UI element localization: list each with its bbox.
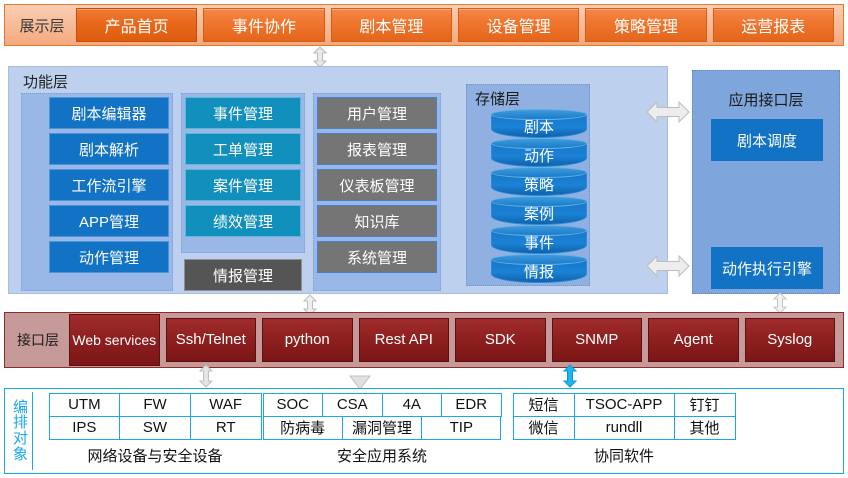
orch-cell-utm[interactable]: UTM <box>49 393 121 417</box>
interface-button-snmp[interactable]: SNMP <box>552 318 643 362</box>
storage-cylinder-policy[interactable]: 策略 <box>491 167 587 196</box>
orch-cell-waf[interactable]: WAF <box>190 393 262 417</box>
function-column-admin: 用户管理 报表管理 仪表板管理 知识库 系统管理 <box>313 93 441 291</box>
orchestration-row: 微信 rundll 其他 <box>513 416 735 439</box>
presentation-layer-bar: 展示层 产品首页 事件协作 剧本管理 设备管理 策略管理 运营报表 <box>4 4 844 46</box>
interface-button-python[interactable]: python <box>262 318 353 362</box>
architecture-diagram: 展示层 产品首页 事件协作 剧本管理 设备管理 策略管理 运营报表 功能层 剧本… <box>0 0 848 478</box>
function-column-playbook: 剧本编辑器 剧本解析 工作流引擎 APP管理 动作管理 <box>21 93 173 291</box>
function-cell-playbook-parse[interactable]: 剧本解析 <box>49 133 169 165</box>
orchestration-group-security-apps: SOC CSA 4A EDR 防病毒 漏洞管理 TIP 安全应用系统 <box>263 393 501 466</box>
app-interface-layer-title: 应用接口层 <box>693 89 839 110</box>
nav-button-operation-report[interactable]: 运营报表 <box>713 8 834 42</box>
orchestration-caption-network-devices: 网络设备与安全设备 <box>49 439 261 466</box>
orch-cell-tsoc-app[interactable]: TSOC-APP <box>574 393 675 417</box>
storage-label-event: 事件 <box>524 227 554 253</box>
storage-label-intelligence: 情报 <box>524 256 554 282</box>
function-cell-report-management[interactable]: 报表管理 <box>317 133 437 165</box>
orchestration-caption-security-apps: 安全应用系统 <box>263 439 501 466</box>
arrow-presentation-function <box>306 46 334 68</box>
orch-cell-4a[interactable]: 4A <box>382 393 443 417</box>
storage-cylinder-playbook[interactable]: 剧本 <box>491 109 587 138</box>
orchestration-objects-panel: 编 排 对 象 UTM FW WAF IPS SW RT 网络设备与安全设备 S… <box>4 388 844 474</box>
orch-cell-rt[interactable]: RT <box>190 416 262 440</box>
orchestration-row: SOC CSA 4A EDR <box>263 393 501 416</box>
storage-cylinder-action[interactable]: 动作 <box>491 138 587 167</box>
orch-cell-other[interactable]: 其他 <box>674 416 736 440</box>
storage-cylinder-stack: 剧本 动作 策略 案例 事件 情报 <box>491 109 587 283</box>
function-cell-performance-management[interactable]: 绩效管理 <box>185 205 301 237</box>
interface-button-web-services[interactable]: Web services <box>69 314 160 366</box>
arrow-interface-collaboration-software <box>557 364 583 390</box>
function-cell-user-management[interactable]: 用户管理 <box>317 97 437 129</box>
presentation-layer-label: 展示层 <box>11 15 73 36</box>
orchestration-row: 防病毒 漏洞管理 TIP <box>263 416 501 439</box>
interface-button-syslog[interactable]: Syslog <box>745 318 836 362</box>
function-cell-action-management[interactable]: 动作管理 <box>49 241 169 273</box>
app-interface-layer-panel: 应用接口层 剧本调度 动作执行引擎 <box>692 70 840 294</box>
storage-layer-title: 存储层 <box>475 88 520 109</box>
function-cell-app-management[interactable]: APP管理 <box>49 205 169 237</box>
orch-cell-sms[interactable]: 短信 <box>513 393 575 417</box>
nav-button-event-collaboration[interactable]: 事件协作 <box>203 8 324 42</box>
orch-cell-edr[interactable]: EDR <box>441 393 502 417</box>
orch-cell-csa[interactable]: CSA <box>322 393 383 417</box>
function-cell-intelligence-management[interactable]: 情报管理 <box>184 259 302 291</box>
interface-button-sdk[interactable]: SDK <box>455 318 546 362</box>
arrow-function-app-bottom <box>646 252 690 280</box>
interface-button-rest-api[interactable]: Rest API <box>359 318 450 362</box>
orchestration-label-char-4: 象 <box>13 447 28 463</box>
function-cell-dashboard-management[interactable]: 仪表板管理 <box>317 169 437 201</box>
interface-layer-bar: 接口层 Web services Ssh/Telnet python Rest … <box>4 312 844 368</box>
orchestration-label-char-3: 对 <box>13 431 28 447</box>
storage-label-policy: 策略 <box>524 169 554 195</box>
orchestration-row: 短信 TSOC-APP 钉钉 <box>513 393 735 416</box>
arrow-function-app-top <box>646 98 690 126</box>
orchestration-group-network-devices: UTM FW WAF IPS SW RT 网络设备与安全设备 <box>49 393 261 466</box>
function-cell-playbook-editor[interactable]: 剧本编辑器 <box>49 97 169 129</box>
nav-button-playbook-management[interactable]: 剧本管理 <box>331 8 452 42</box>
orchestration-label-char-1: 编 <box>13 400 28 416</box>
arrow-interface-network-devices <box>193 364 219 390</box>
storage-cylinder-case[interactable]: 案例 <box>491 196 587 225</box>
function-cell-workflow-engine[interactable]: 工作流引擎 <box>49 169 169 201</box>
storage-cylinder-event[interactable]: 事件 <box>491 225 587 254</box>
storage-cylinder-intelligence[interactable]: 情报 <box>491 254 587 283</box>
orch-cell-wechat[interactable]: 微信 <box>513 416 575 440</box>
orch-cell-dingtalk[interactable]: 钉钉 <box>674 393 736 417</box>
app-box-action-execution-engine[interactable]: 动作执行引擎 <box>711 247 823 289</box>
orchestration-group-collaboration-software: 短信 TSOC-APP 钉钉 微信 rundll 其他 协同软件 <box>513 393 735 466</box>
orch-cell-soc[interactable]: SOC <box>263 393 324 417</box>
orch-cell-fw[interactable]: FW <box>119 393 191 417</box>
orch-cell-sw[interactable]: SW <box>119 416 191 440</box>
orchestration-caption-collaboration-software: 协同软件 <box>513 439 735 466</box>
orch-cell-antivirus[interactable]: 防病毒 <box>263 416 343 440</box>
nav-button-policy-management[interactable]: 策略管理 <box>585 8 706 42</box>
app-box-playbook-scheduling[interactable]: 剧本调度 <box>711 119 823 161</box>
interface-layer-label: 接口层 <box>10 330 66 350</box>
storage-label-action: 动作 <box>524 140 554 166</box>
orchestration-label-char-2: 排 <box>13 415 28 431</box>
nav-button-device-management[interactable]: 设备管理 <box>458 8 579 42</box>
storage-label-case: 案例 <box>524 198 554 224</box>
function-cell-case-management[interactable]: 案件管理 <box>185 169 301 201</box>
nav-button-product-home[interactable]: 产品首页 <box>76 8 197 42</box>
interface-button-agent[interactable]: Agent <box>648 318 739 362</box>
function-cell-system-management[interactable]: 系统管理 <box>317 241 437 273</box>
orch-cell-ips[interactable]: IPS <box>49 416 121 440</box>
orchestration-objects-label: 编 排 对 象 <box>9 392 33 470</box>
orchestration-row: IPS SW RT <box>49 416 261 439</box>
orchestration-row: UTM FW WAF <box>49 393 261 416</box>
orch-cell-rundll[interactable]: rundll <box>574 416 675 440</box>
function-cell-knowledge-base[interactable]: 知识库 <box>317 205 437 237</box>
orch-cell-tip[interactable]: TIP <box>421 416 501 440</box>
function-layer-title: 功能层 <box>23 71 68 92</box>
function-cell-ticket-management[interactable]: 工单管理 <box>185 133 301 165</box>
function-column-event: 事件管理 工单管理 案件管理 绩效管理 <box>181 93 305 253</box>
function-cell-event-management[interactable]: 事件管理 <box>185 97 301 129</box>
orch-cell-vulnerability-management[interactable]: 漏洞管理 <box>342 416 422 440</box>
arrow-app-interface <box>766 292 794 314</box>
storage-label-playbook: 剧本 <box>524 111 554 137</box>
storage-layer-panel: 存储层 剧本 动作 策略 案例 事件 <box>466 84 590 286</box>
interface-button-ssh-telnet[interactable]: Ssh/Telnet <box>166 318 257 362</box>
